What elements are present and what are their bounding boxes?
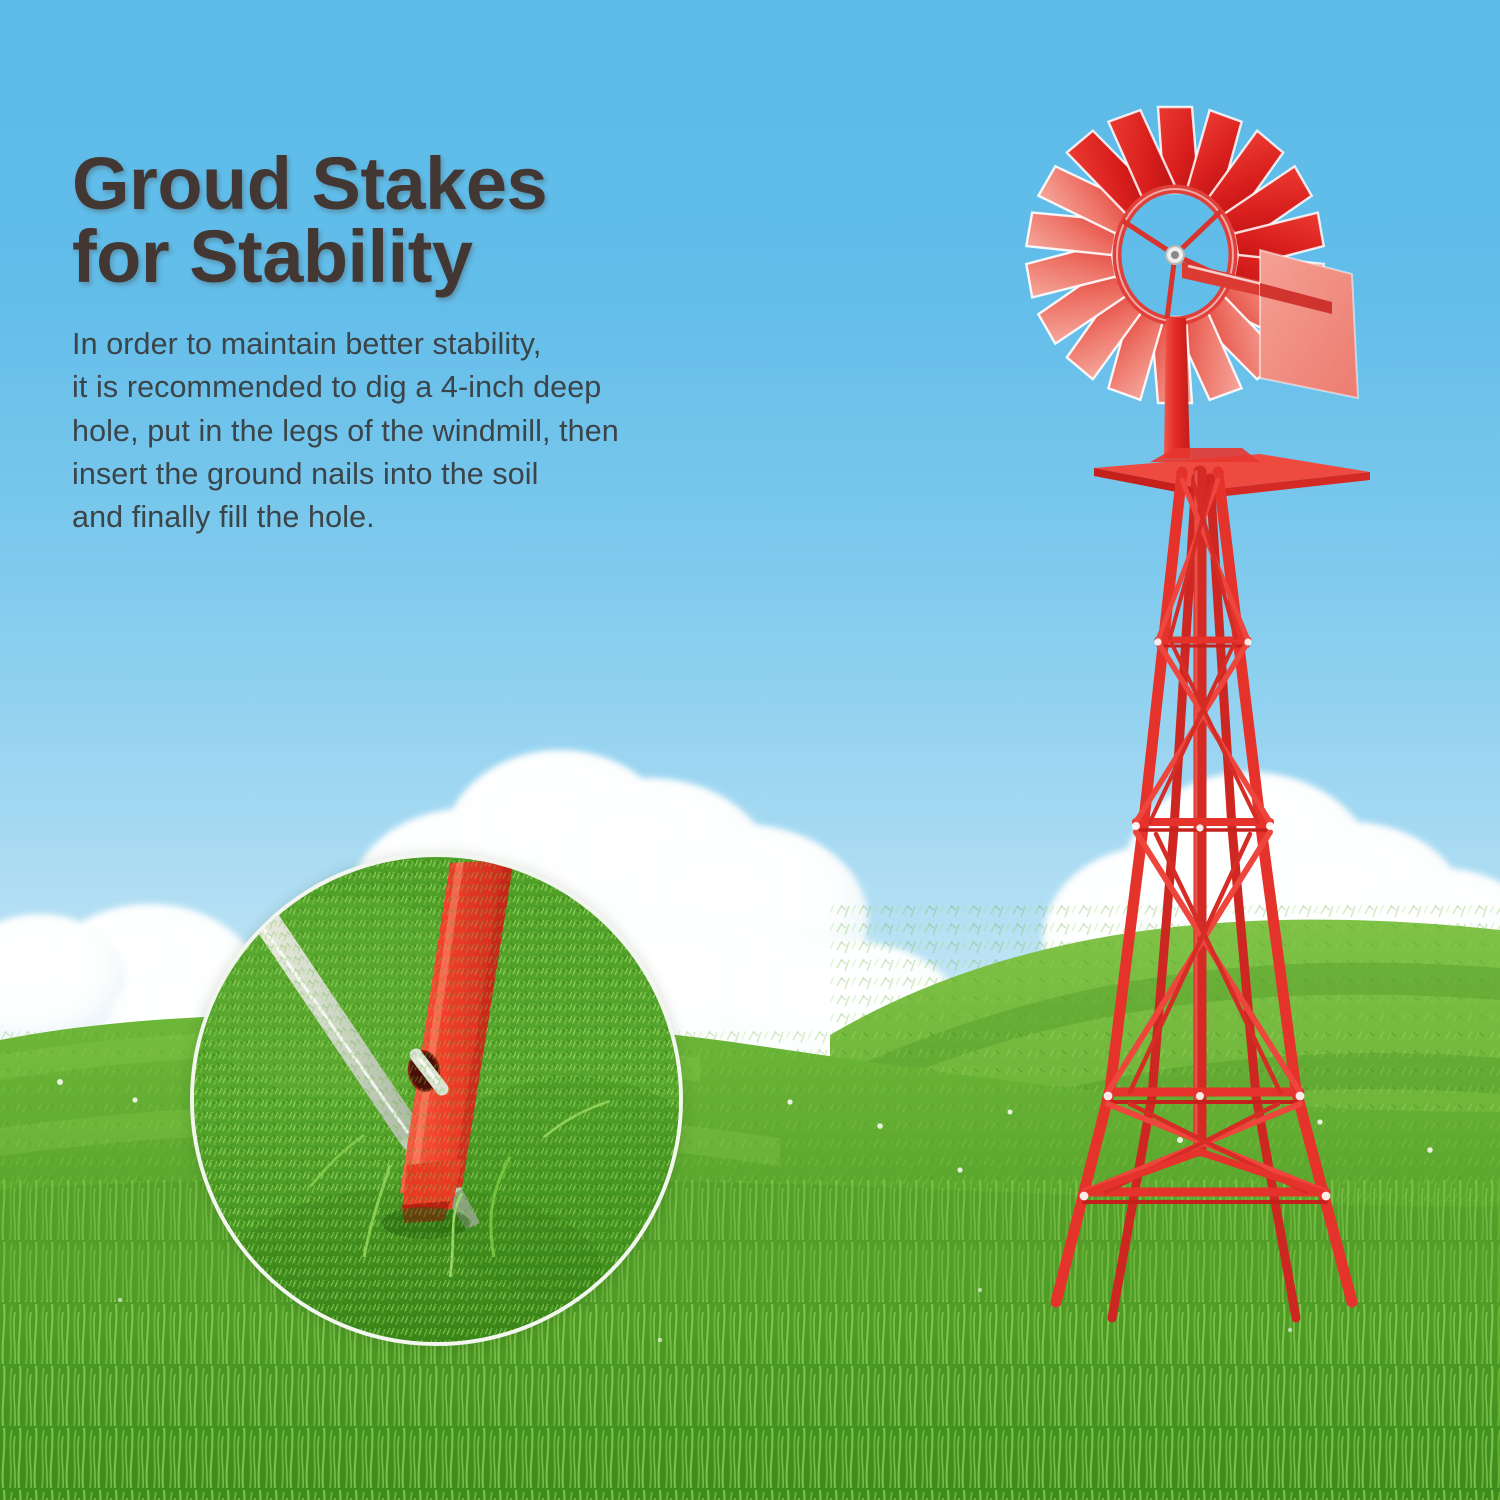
page-title: Groud Stakes for Stability: [72, 148, 832, 293]
text-block: Groud Stakes for Stability In order to m…: [72, 148, 832, 540]
body-line-2: it is recommended to dig a 4-inch deep: [72, 366, 832, 409]
ground-stake-closeup-inset: [190, 853, 683, 1346]
windmill-illustration: [960, 80, 1500, 1410]
headline-line-2: for Stability: [72, 221, 832, 294]
body-line-5: and finally fill the hole.: [72, 496, 832, 539]
infographic-canvas: Groud Stakes for Stability In order to m…: [0, 0, 1500, 1500]
description-paragraph: In order to maintain better stability, i…: [72, 293, 832, 539]
headline-line-1: Groud Stakes: [72, 142, 547, 225]
body-line-1: In order to maintain better stability,: [72, 323, 832, 366]
body-line-3: hole, put in the legs of the windmill, t…: [72, 410, 832, 453]
body-line-4: insert the ground nails into the soil: [72, 453, 832, 496]
